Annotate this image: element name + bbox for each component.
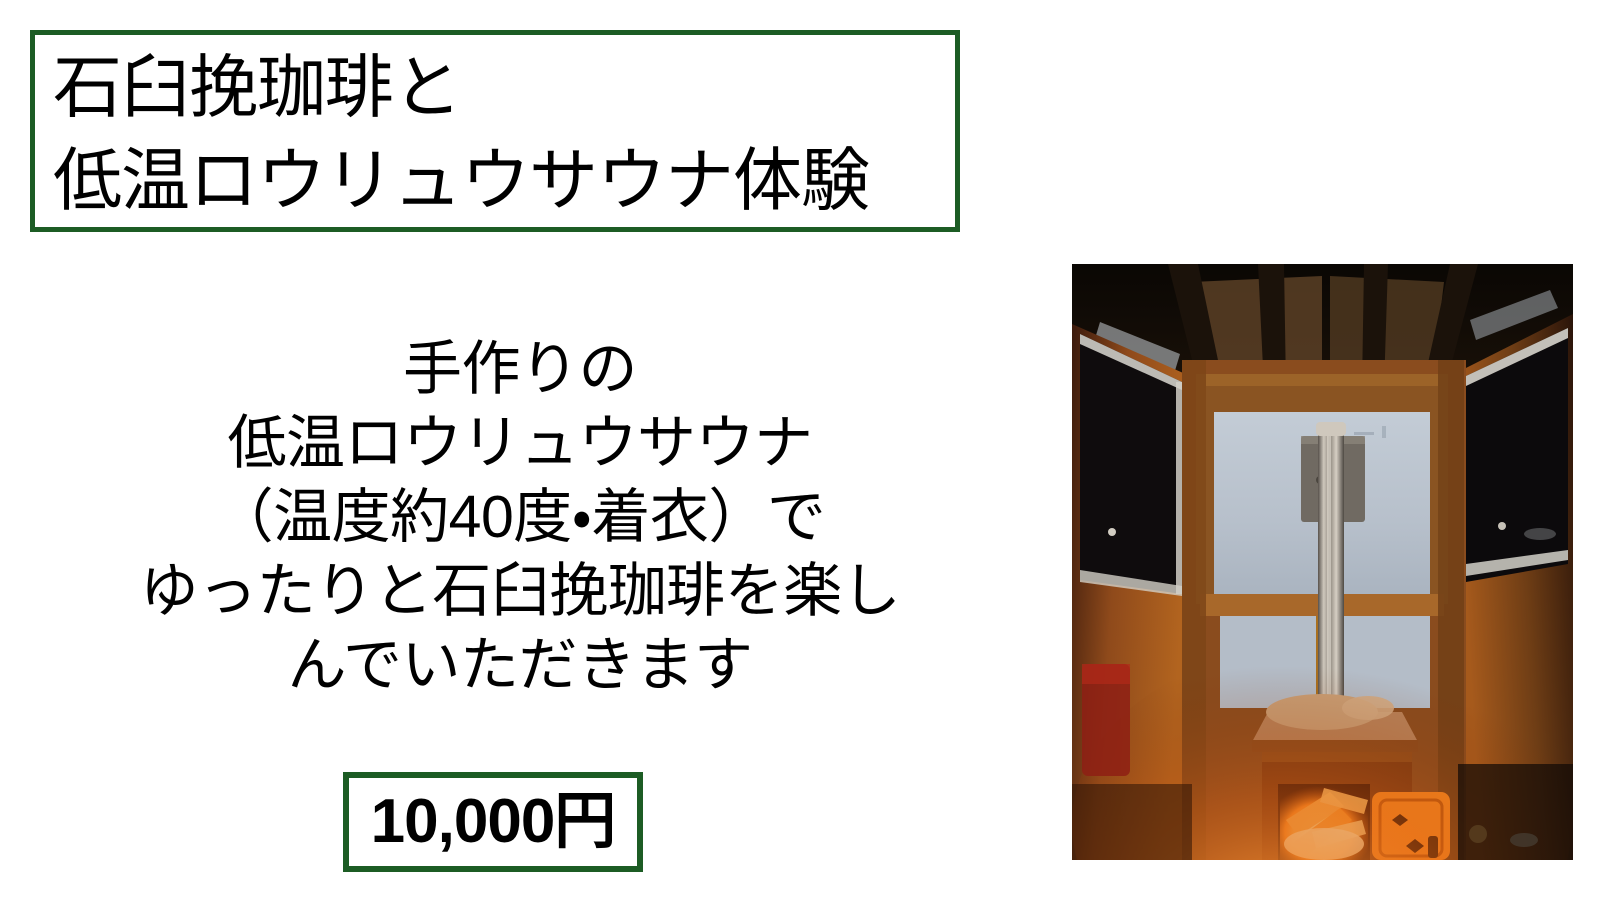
body-copy: 手作りの 低温ロウリュウサウナ （温度約40度・着衣）で ゆったりと石臼挽珈琲を… — [70, 332, 970, 702]
sauna-interior-illustration — [1072, 264, 1573, 860]
body-line-5: んでいただきます — [70, 628, 970, 702]
title-box: 石臼挽珈琲と 低温ロウリュウサウナ体験 — [30, 30, 960, 232]
body-line-4: ゆったりと石臼挽珈琲を楽し — [70, 554, 970, 628]
price-box: 10,000円 — [343, 772, 643, 872]
price-amount: 10,000円 — [371, 791, 616, 853]
title-line-1: 石臼挽珈琲と — [53, 41, 955, 134]
sauna-interior-photo — [1072, 264, 1573, 860]
body-line-1: 手作りの — [70, 332, 970, 406]
body-line-2: 低温ロウリュウサウナ — [70, 406, 970, 480]
title-line-2: 低温ロウリュウサウナ体験 — [53, 134, 955, 227]
body-line-3: （温度約40度・着衣）で — [70, 480, 970, 554]
